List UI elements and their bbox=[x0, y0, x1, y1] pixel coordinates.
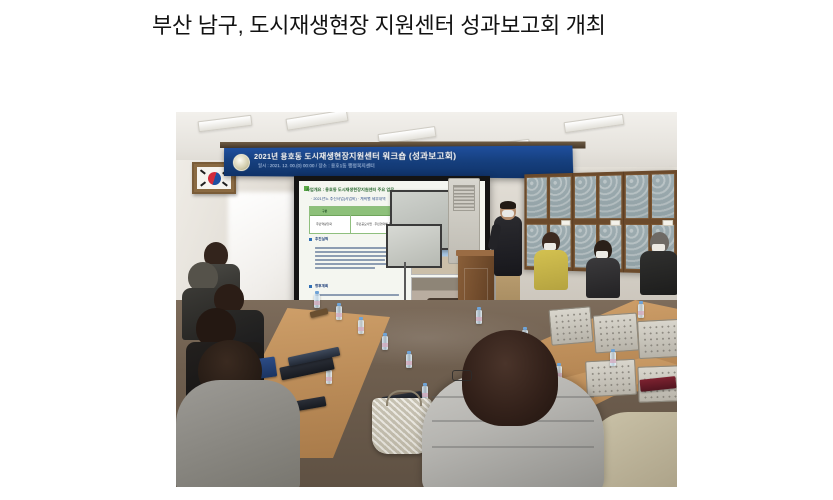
chair-perforation bbox=[553, 311, 589, 342]
taeguk-circle bbox=[205, 169, 223, 187]
bottle-label bbox=[422, 393, 428, 397]
bottle-label bbox=[336, 313, 342, 317]
ac-grill bbox=[453, 185, 475, 211]
slide-section-one: 추진실적 bbox=[315, 237, 328, 242]
slide-bullets-two bbox=[315, 294, 403, 298]
bottle-label bbox=[382, 343, 388, 347]
slide-bullet-line bbox=[315, 251, 389, 253]
tote-handle bbox=[386, 390, 422, 406]
face-mask-icon bbox=[652, 244, 665, 251]
page-title: 부산 남구, 도시재생현장 지원센터 성과보고회 개최 bbox=[152, 10, 712, 41]
slide-bullet-line bbox=[315, 267, 375, 269]
banner-title: 2021년 용호동 도시재생현장지원센터 워크숍 (성과보고회) bbox=[254, 150, 565, 162]
cabinet-pane bbox=[599, 174, 623, 219]
event-banner: 2021년 용호동 도시재생현장지원센터 워크숍 (성과보고회) 일시 : 20… bbox=[224, 146, 573, 179]
trigram-1 bbox=[200, 169, 206, 174]
podium-panel bbox=[464, 268, 488, 304]
bottle-label bbox=[610, 359, 616, 363]
slide-th-1: 구분 bbox=[322, 209, 327, 213]
banner-subtitle: 일시 : 2021. 12. 00.(0) 00:00 / 장소 : 용호1동 … bbox=[258, 163, 565, 170]
cabinet-pane bbox=[549, 176, 571, 219]
cabinet-pane bbox=[574, 175, 597, 219]
whiteboard-stand bbox=[404, 262, 406, 300]
chair-right-1 bbox=[549, 306, 594, 346]
bottle-body bbox=[314, 294, 320, 308]
chair-perforation bbox=[641, 323, 677, 355]
whiteboard-lower bbox=[386, 224, 442, 268]
slide-bullet-line bbox=[315, 263, 397, 265]
face-mask-icon bbox=[502, 210, 514, 217]
slide-table-divider-1 bbox=[350, 207, 351, 233]
bottle-body bbox=[336, 306, 342, 320]
slide-section-two: 향후계획 bbox=[315, 284, 328, 289]
chair-right-2 bbox=[593, 313, 640, 354]
bottle-body bbox=[326, 370, 332, 384]
attendee-body bbox=[640, 251, 677, 295]
bottle-label bbox=[314, 301, 320, 305]
slide-td-1: 주민역량강화 bbox=[316, 222, 332, 226]
chair-perforation bbox=[589, 363, 632, 393]
bottle-label bbox=[406, 361, 412, 365]
cabinet-label bbox=[561, 220, 570, 225]
foreground-woman-hair bbox=[462, 330, 558, 426]
cabinet-divider bbox=[623, 172, 624, 273]
presenter-head bbox=[500, 202, 516, 220]
bottle-body bbox=[358, 320, 364, 334]
slide-section-icon-1 bbox=[309, 238, 312, 241]
city-emblem-icon bbox=[233, 154, 250, 171]
podium-top bbox=[456, 250, 496, 256]
bottle-body bbox=[382, 336, 388, 350]
bottle-label bbox=[326, 377, 332, 381]
eyeglasses-icon bbox=[452, 370, 472, 381]
face-mask-icon bbox=[544, 243, 556, 250]
bottle-body bbox=[638, 304, 644, 318]
cabinet-label bbox=[610, 220, 620, 225]
attendee-body bbox=[586, 258, 620, 298]
bottle-label bbox=[638, 311, 644, 315]
bottle-body bbox=[476, 310, 482, 324]
chair-perforation bbox=[597, 317, 635, 349]
article-photo: 2021년 용호동 도시재생현장지원센터 워크숍 (성과보고회) 일시 : 20… bbox=[176, 112, 677, 487]
attendee-body bbox=[534, 250, 568, 290]
trigram-4 bbox=[222, 182, 228, 187]
slide-section-icon-2 bbox=[309, 285, 312, 288]
face-mask-icon bbox=[596, 251, 608, 258]
slide-bullet-line bbox=[315, 259, 385, 261]
slide-bullet-line bbox=[315, 294, 399, 296]
bottle-label bbox=[476, 317, 482, 321]
cabinet-pane bbox=[526, 176, 548, 219]
cabinet-pane bbox=[625, 174, 649, 219]
presenter-hair bbox=[500, 201, 516, 209]
jacket-seam bbox=[432, 446, 594, 448]
bottle-body bbox=[406, 354, 412, 368]
cabinet-pane bbox=[651, 173, 675, 219]
foreground-person-left bbox=[176, 380, 300, 487]
cabinet-label bbox=[663, 220, 674, 225]
bottle-label bbox=[358, 327, 364, 331]
trigram-3 bbox=[200, 182, 206, 187]
bottle-body bbox=[610, 352, 616, 366]
chair-right-3 bbox=[637, 319, 677, 359]
